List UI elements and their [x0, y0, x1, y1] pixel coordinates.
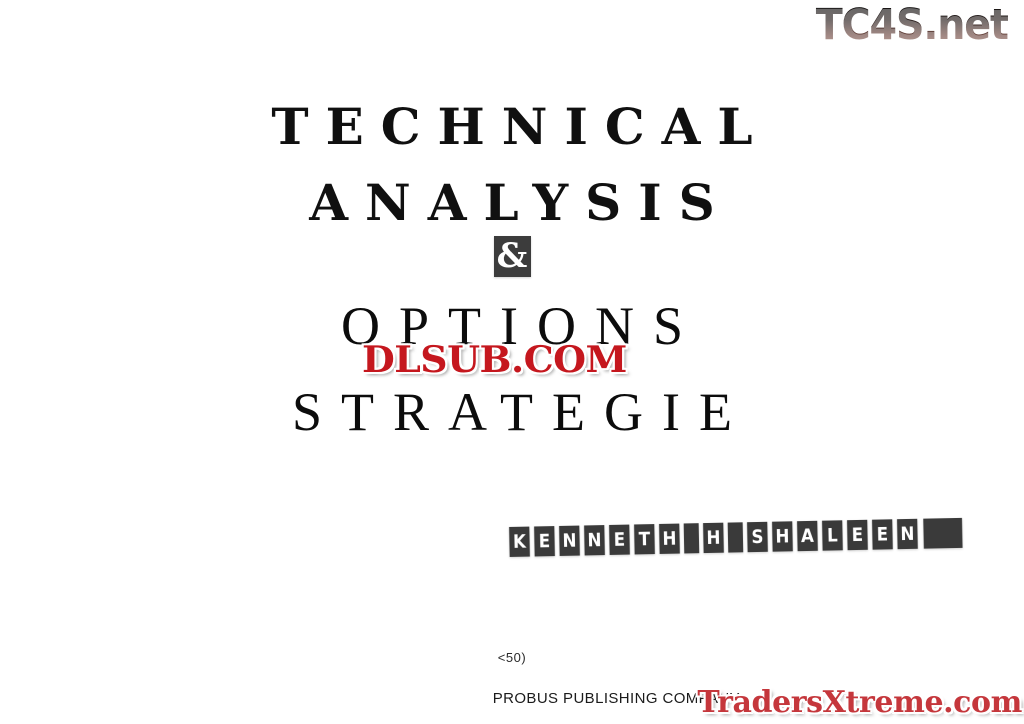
author-tile-11: H — [772, 521, 793, 551]
author-tile-10: S — [747, 522, 768, 552]
author-tile-5: T — [634, 524, 655, 554]
author-tile-8: H — [703, 523, 724, 553]
author-tile-15: E — [872, 519, 893, 549]
author-tile-0: K — [509, 527, 530, 557]
page-scan-artifact: <50) — [0, 650, 1024, 665]
tc4s-site-watermark: TC4S.net — [816, 4, 1008, 47]
author-tile-12: A — [797, 521, 818, 551]
author-name-strip: KENNETH H SHALEEN — [508, 518, 966, 557]
ampersand-wrapper: & — [0, 236, 1024, 280]
title-line-analysis: ANALYSIS — [0, 176, 1024, 230]
author-tile-4: E — [609, 525, 630, 555]
author-tile-16: N — [897, 519, 918, 549]
ampersand-block: & — [494, 236, 531, 277]
tradersxtreme-site-watermark: TradersXtreme.com — [697, 686, 1022, 720]
subtitle-line-strategies: STRATEGIE — [0, 383, 1024, 441]
publisher-name: PROBUS PUBLISHING COMPANY — [0, 690, 740, 707]
dlsub-site-watermark: DLSUB.COM — [362, 340, 627, 380]
author-tile-9 — [728, 522, 744, 552]
author-tile-13: L — [822, 520, 843, 550]
author-tile-6: H — [659, 524, 680, 554]
author-tile-7 — [684, 523, 700, 553]
title-line-technical: TECHNICAL — [0, 100, 1024, 154]
author-tile-17 — [923, 518, 962, 549]
author-tile-3: N — [584, 525, 605, 555]
author-tile-2: N — [559, 526, 580, 556]
author-tile-14: E — [847, 520, 868, 550]
book-cover-page: TC4S.net TECHNICAL ANALYSIS & OPTIONS ST… — [0, 0, 1024, 724]
author-tile-1: E — [534, 526, 555, 556]
